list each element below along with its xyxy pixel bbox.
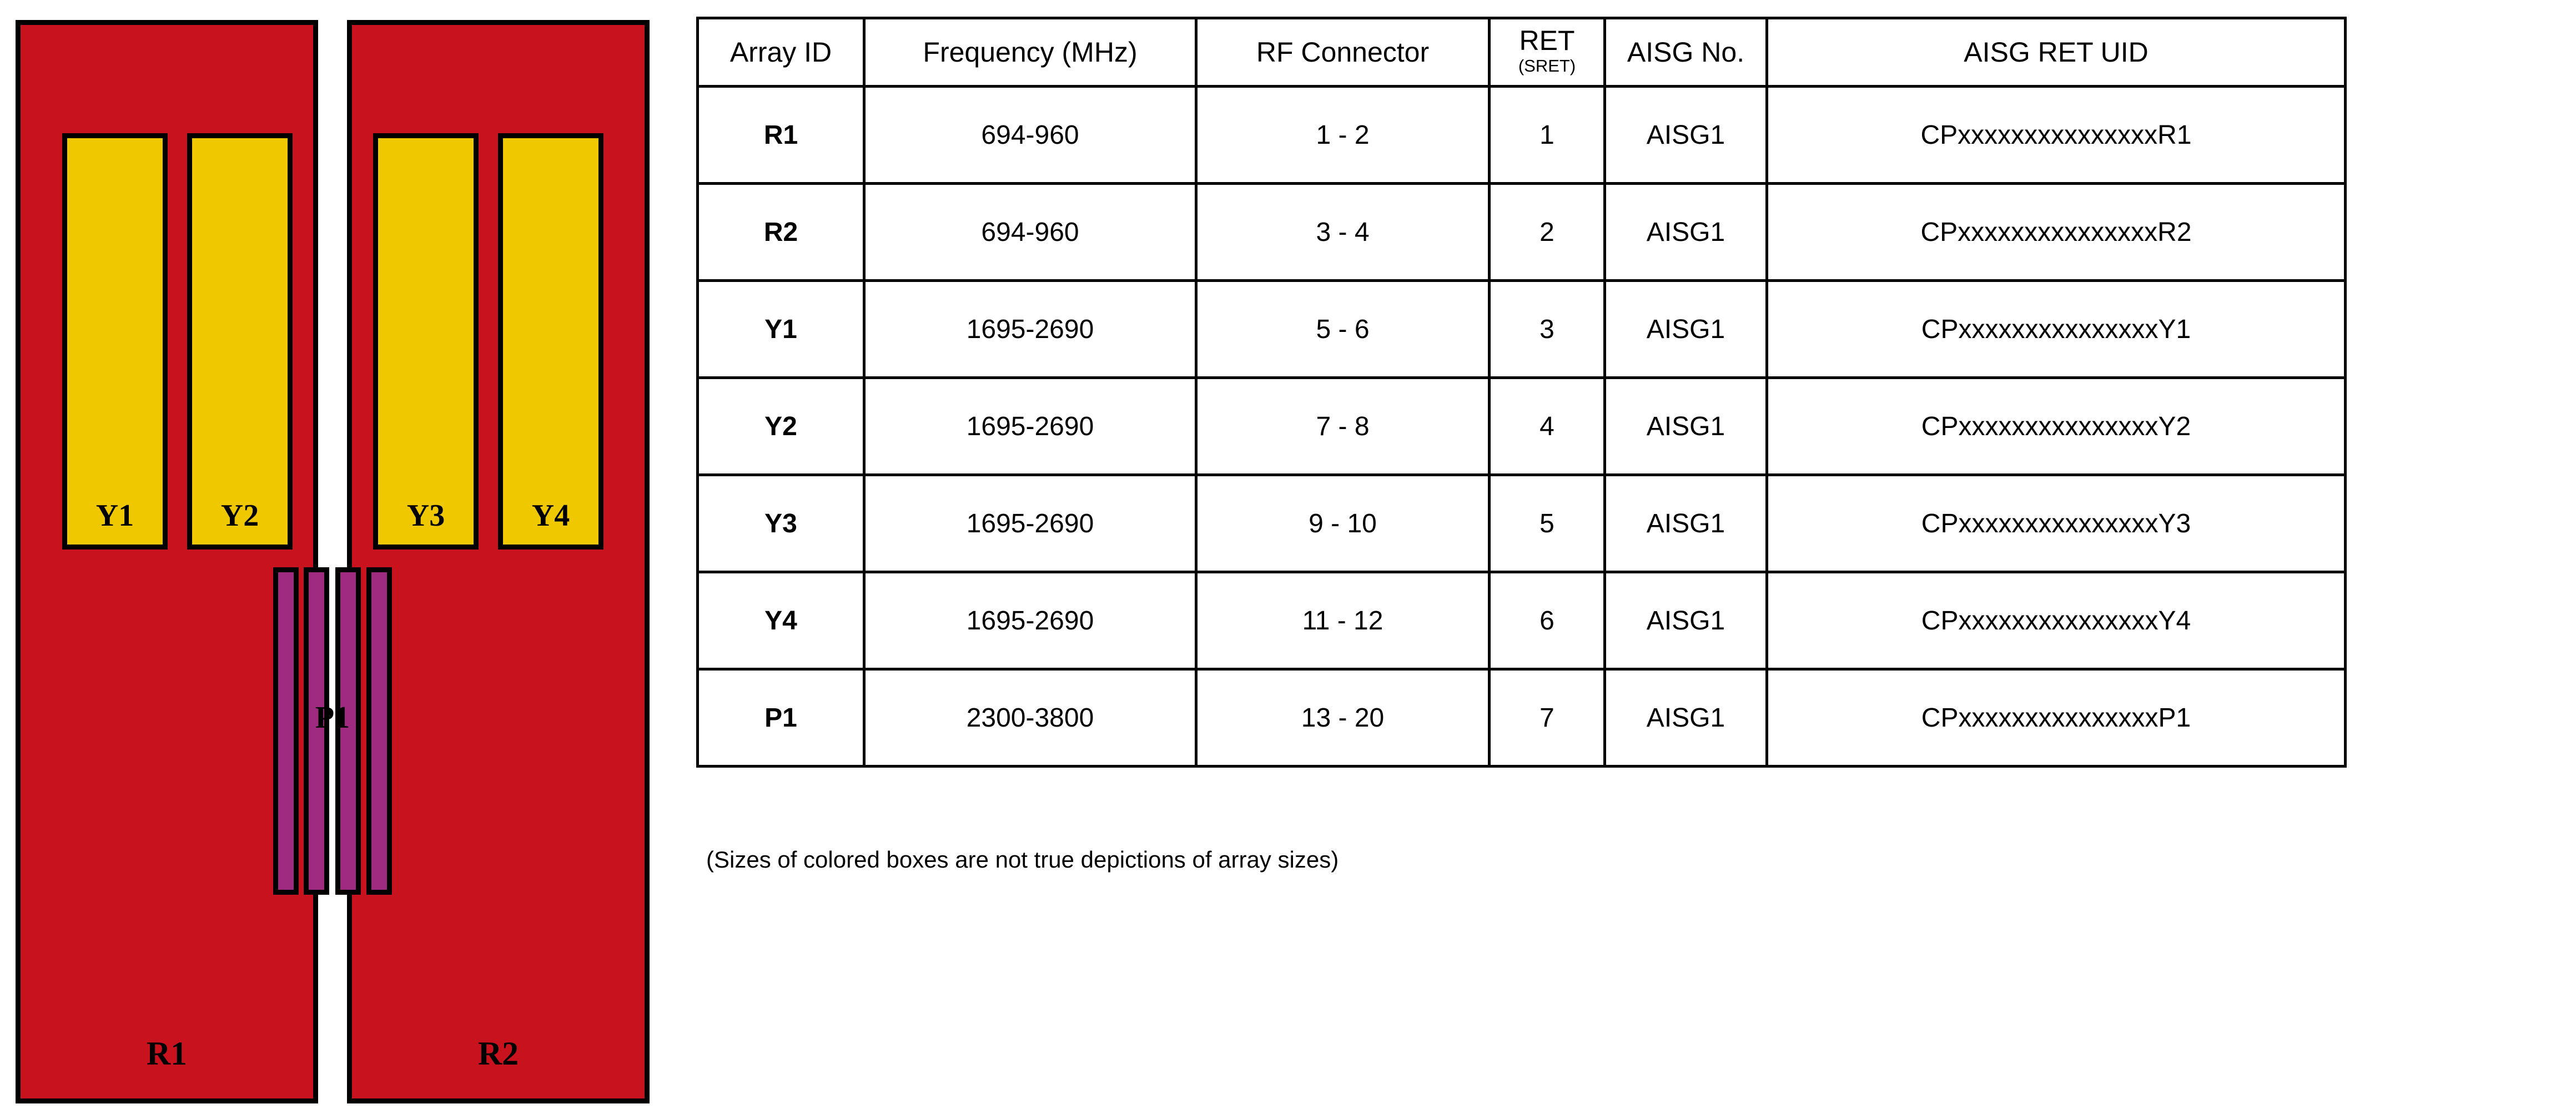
- yellow-array-y4-label: Y4: [532, 500, 570, 545]
- column-header-rf-connector: RF Connector: [1196, 18, 1490, 87]
- cell-frequency: 1695-2690: [864, 281, 1196, 378]
- table-row: Y11695-26905 - 63AISG1CPxxxxxxxxxxxxxxxY…: [698, 281, 2346, 378]
- cell-rf-connector: 7 - 8: [1196, 378, 1490, 475]
- cell-frequency: 694-960: [864, 87, 1196, 184]
- cell-ret: 7: [1490, 669, 1605, 767]
- table-row: Y41695-269011 - 126AISG1CPxxxxxxxxxxxxxx…: [698, 572, 2346, 669]
- column-header-ret: RET (SRET): [1490, 18, 1605, 87]
- cell-rf-connector: 13 - 20: [1196, 669, 1490, 767]
- cell-ret: 3: [1490, 281, 1605, 378]
- table-row: P12300-380013 - 207AISG1CPxxxxxxxxxxxxxx…: [698, 669, 2346, 767]
- cell-aisg-no: AISG1: [1605, 184, 1767, 281]
- yellow-array-y2: Y2: [187, 133, 293, 550]
- cell-array-id: Y3: [698, 475, 864, 572]
- table-header-row: Array ID Frequency (MHz) RF Connector RE…: [698, 18, 2346, 87]
- yellow-array-y3: Y3: [373, 133, 479, 550]
- table-row: R1694-9601 - 21AISG1CPxxxxxxxxxxxxxxxR1: [698, 87, 2346, 184]
- cell-array-id: R2: [698, 184, 864, 281]
- cell-array-id: Y4: [698, 572, 864, 669]
- cell-array-id: Y1: [698, 281, 864, 378]
- cell-aisg-no: AISG1: [1605, 281, 1767, 378]
- cell-rf-connector: 1 - 2: [1196, 87, 1490, 184]
- cell-aisg-ret-uid: CPxxxxxxxxxxxxxxxY4: [1767, 572, 2346, 669]
- cell-array-id: Y2: [698, 378, 864, 475]
- column-header-aisg-no: AISG No.: [1605, 18, 1767, 87]
- table-row: Y21695-26907 - 84AISG1CPxxxxxxxxxxxxxxxY…: [698, 378, 2346, 475]
- cell-aisg-ret-uid: CPxxxxxxxxxxxxxxxP1: [1767, 669, 2346, 767]
- cell-array-id: P1: [698, 669, 864, 767]
- table-footnote: (Sizes of colored boxes are not true dep…: [706, 846, 1339, 873]
- cell-frequency: 694-960: [864, 184, 1196, 281]
- cell-rf-connector: 9 - 10: [1196, 475, 1490, 572]
- red-panel-r1-label: R1: [16, 1037, 318, 1070]
- cell-frequency: 1695-2690: [864, 572, 1196, 669]
- cell-aisg-no: AISG1: [1605, 378, 1767, 475]
- yellow-array-y2-label: Y2: [221, 500, 259, 545]
- ret-configuration-table: Array ID Frequency (MHz) RF Connector RE…: [696, 17, 2347, 768]
- cell-array-id: R1: [698, 87, 864, 184]
- ret-configuration-table-container: Array ID Frequency (MHz) RF Connector RE…: [696, 17, 2347, 768]
- cell-aisg-ret-uid: CPxxxxxxxxxxxxxxxY3: [1767, 475, 2346, 572]
- cell-ret: 4: [1490, 378, 1605, 475]
- yellow-array-y4: Y4: [498, 133, 603, 550]
- cell-aisg-no: AISG1: [1605, 475, 1767, 572]
- column-header-ret-main: RET: [1491, 27, 1603, 55]
- cell-aisg-ret-uid: CPxxxxxxxxxxxxxxxR1: [1767, 87, 2346, 184]
- cell-aisg-no: AISG1: [1605, 87, 1767, 184]
- cell-rf-connector: 3 - 4: [1196, 184, 1490, 281]
- column-header-ret-sub: (SRET): [1491, 55, 1603, 77]
- cell-aisg-no: AISG1: [1605, 572, 1767, 669]
- cell-frequency: 1695-2690: [864, 475, 1196, 572]
- table-body: R1694-9601 - 21AISG1CPxxxxxxxxxxxxxxxR1R…: [698, 87, 2346, 767]
- cell-rf-connector: 5 - 6: [1196, 281, 1490, 378]
- yellow-array-y1: Y1: [62, 133, 168, 550]
- yellow-array-y1-label: Y1: [96, 500, 134, 545]
- cell-ret: 6: [1490, 572, 1605, 669]
- cell-ret: 2: [1490, 184, 1605, 281]
- cell-aisg-ret-uid: CPxxxxxxxxxxxxxxxY1: [1767, 281, 2346, 378]
- column-header-aisg-ret-uid: AISG RET UID: [1767, 18, 2346, 87]
- column-header-array-id: Array ID: [698, 18, 864, 87]
- cell-frequency: 1695-2690: [864, 378, 1196, 475]
- table-row: R2694-9603 - 42AISG1CPxxxxxxxxxxxxxxxR2: [698, 184, 2346, 281]
- cell-rf-connector: 11 - 12: [1196, 572, 1490, 669]
- cell-aisg-ret-uid: CPxxxxxxxxxxxxxxxR2: [1767, 184, 2346, 281]
- cell-ret: 1: [1490, 87, 1605, 184]
- cell-frequency: 2300-3800: [864, 669, 1196, 767]
- purple-array-p1-label: P1: [273, 702, 392, 733]
- table-row: Y31695-26909 - 105AISG1CPxxxxxxxxxxxxxxx…: [698, 475, 2346, 572]
- yellow-array-y3-label: Y3: [407, 500, 445, 545]
- column-header-frequency: Frequency (MHz): [864, 18, 1196, 87]
- red-panel-r2-label: R2: [347, 1037, 650, 1070]
- cell-aisg-ret-uid: CPxxxxxxxxxxxxxxxY2: [1767, 378, 2346, 475]
- antenna-array-diagram: Y1 Y2 Y3 Y4 P1 R1 R2: [0, 0, 661, 1119]
- cell-ret: 5: [1490, 475, 1605, 572]
- cell-aisg-no: AISG1: [1605, 669, 1767, 767]
